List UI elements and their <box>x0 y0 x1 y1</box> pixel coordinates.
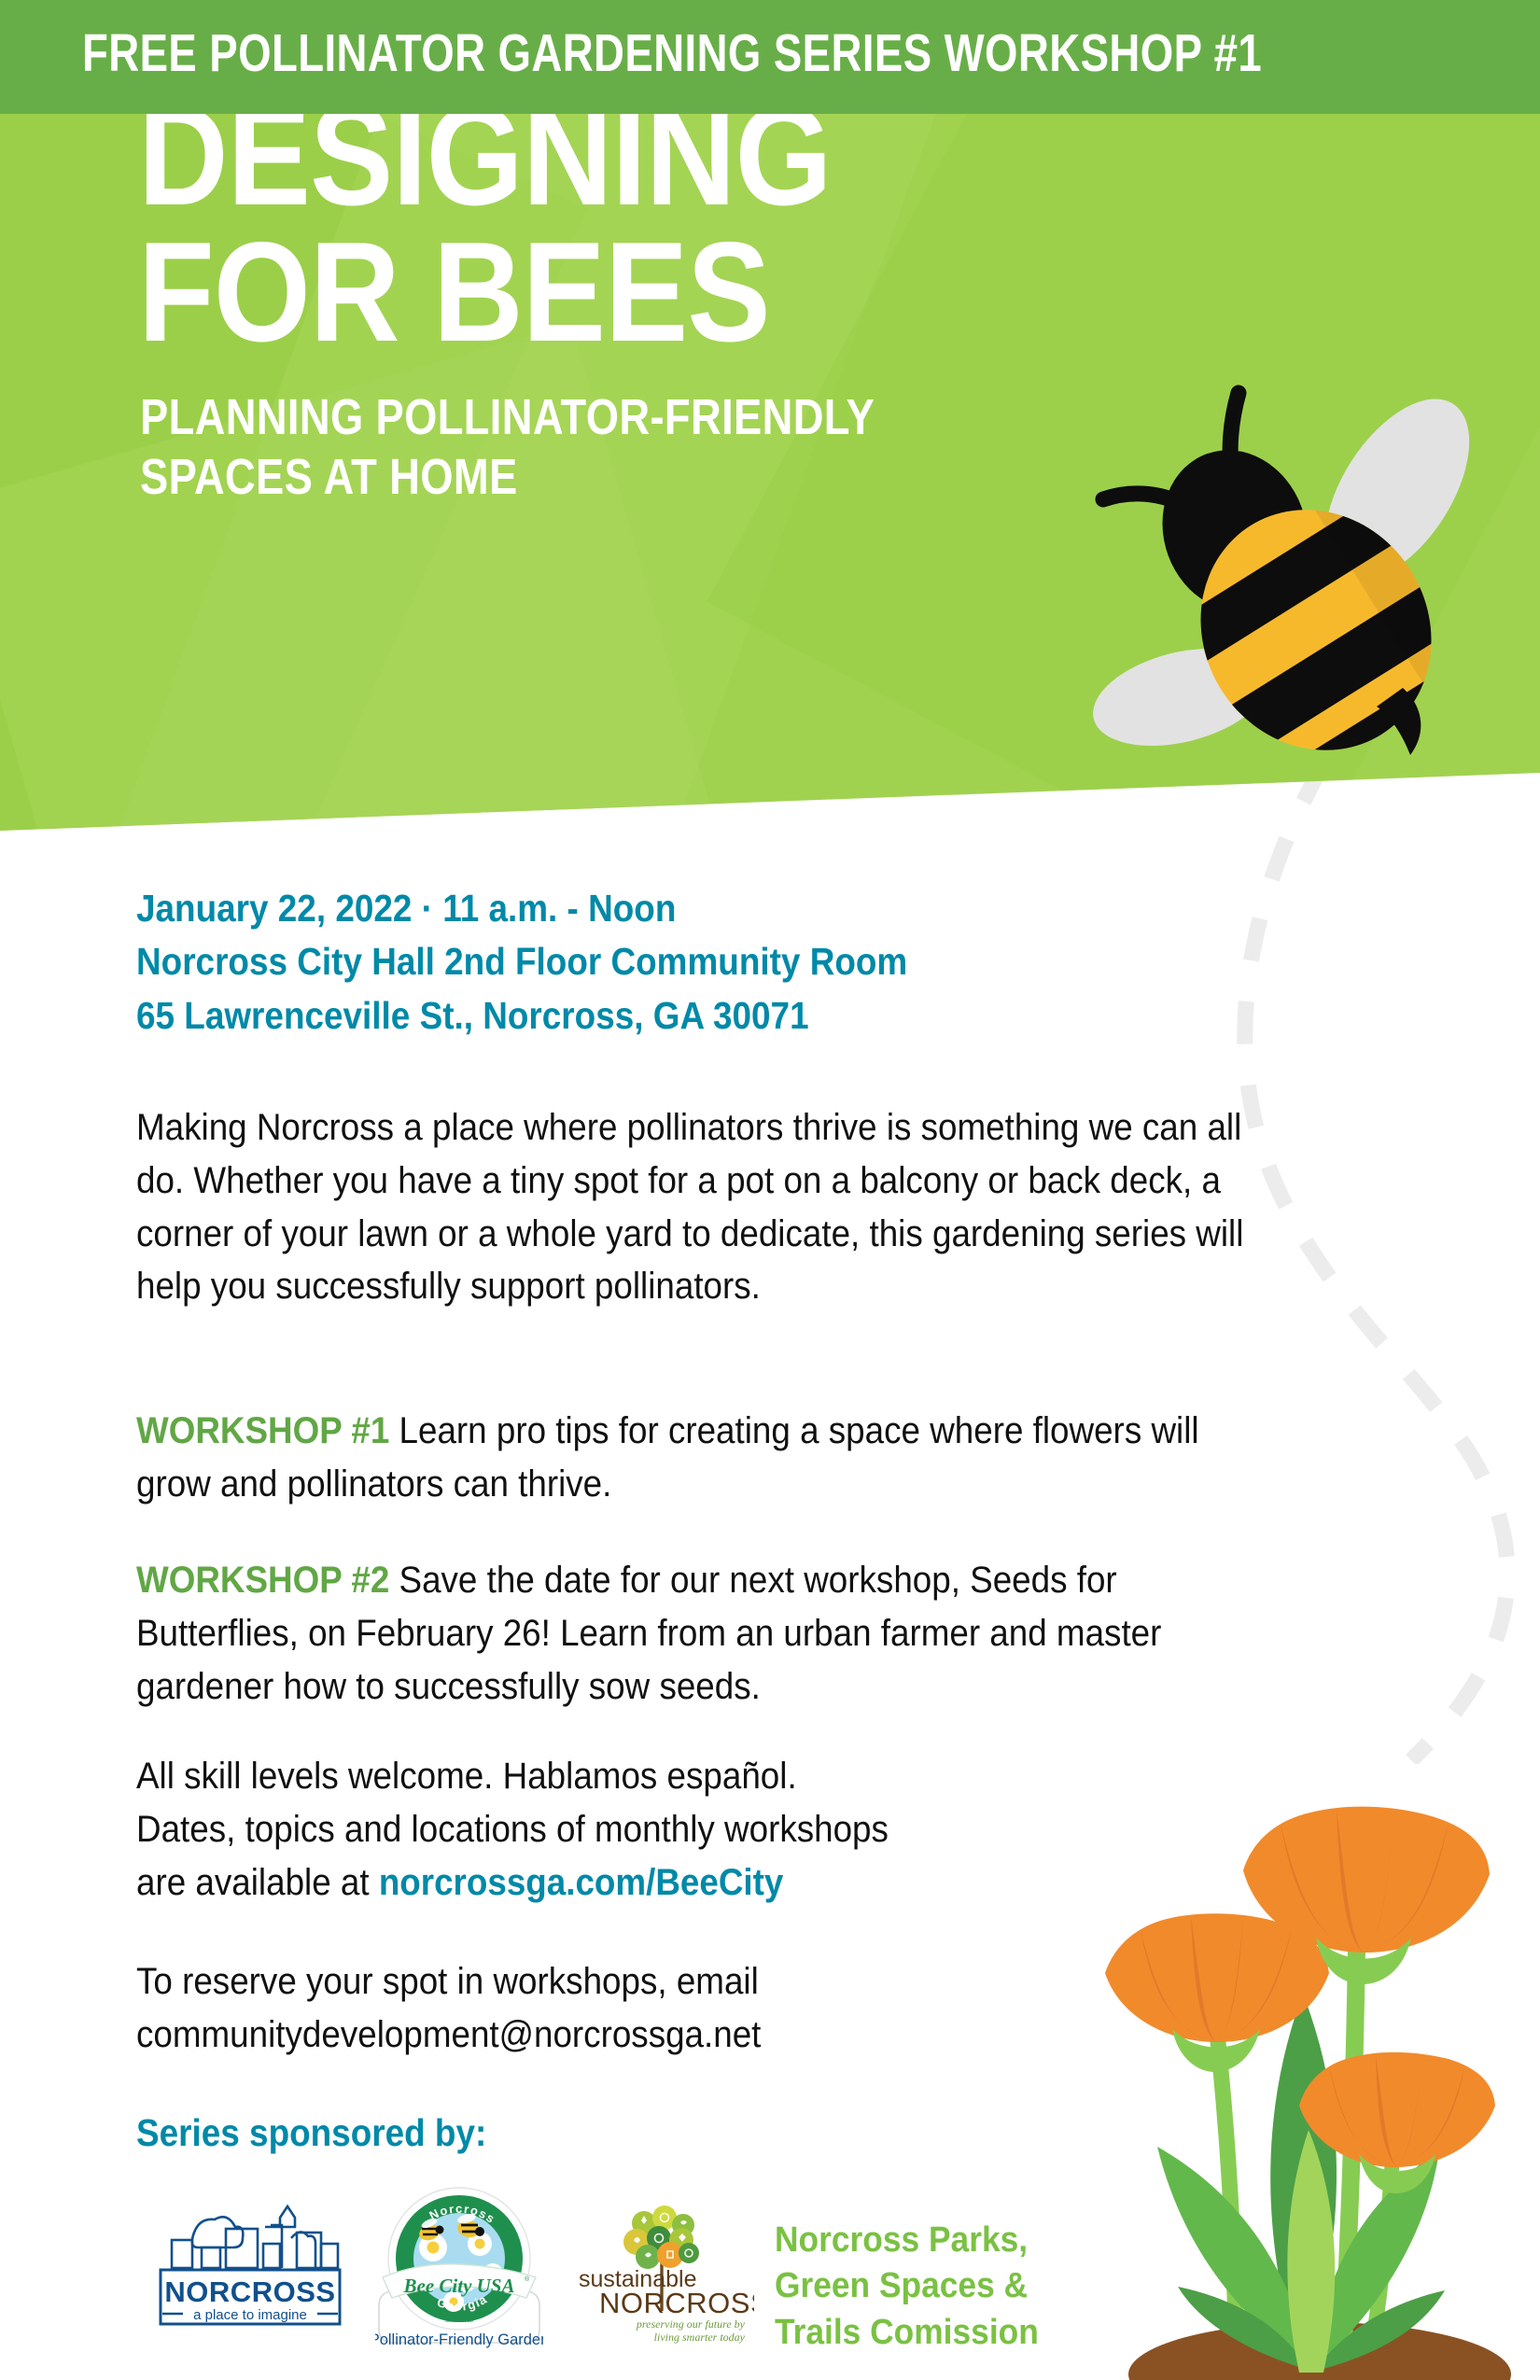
svg-text:NORCROSS: NORCROSS <box>164 2275 335 2308</box>
sponsor-logos: NORCROSS a place to imagine <box>131 2184 1232 2361</box>
info-paragraph: All skill levels welcome. Hablamos españ… <box>136 1750 1244 1909</box>
event-date-time: January 22, 2022 · 11 a.m. - Noon <box>136 882 907 935</box>
poster-canvas: FREE POLLINATOR GARDENING SERIES WORKSHO… <box>0 0 1540 2380</box>
norcross-city-logo: NORCROSS a place to imagine <box>146 2201 351 2341</box>
info-line-3-prefix: are available at <box>136 1862 379 1903</box>
beecity-plaque-text: Pollinator-Friendly Garden <box>375 2331 543 2348</box>
sustainable-norcross-logo: sustainable NORCROSS preserving our futu… <box>567 2195 754 2352</box>
bee-city-usa-logo: Norcross Georgia Since 2018 Bee City USA… <box>375 2182 543 2361</box>
email-paragraph: To reserve your spot in workshops, email… <box>136 1955 1244 2062</box>
parks-line-2: Green Spaces & <box>775 2263 1039 2309</box>
parks-commission-text: Norcross Parks, Green Spaces & Trails Co… <box>775 2218 1039 2356</box>
norcross-word: NORCROSS <box>599 2287 754 2319</box>
sponsors-heading: Series sponsored by: <box>136 2111 486 2155</box>
info-line-1: All skill levels welcome. Hablamos españ… <box>136 1756 797 1797</box>
svg-text:Since 2018: Since 2018 <box>445 2318 474 2324</box>
svg-text:a place to imagine: a place to imagine <box>193 2307 307 2323</box>
intro-paragraph: Making Norcross a place where pollinator… <box>136 1101 1244 1313</box>
parks-line-1: Norcross Parks, <box>775 2218 1039 2263</box>
info-line-2: Dates, topics and locations of monthly w… <box>136 1809 889 1850</box>
email-line-1: To reserve your spot in workshops, email <box>136 1961 759 2002</box>
workshop-1-label: WORKSHOP #1 <box>136 1410 389 1451</box>
event-venue: Norcross City Hall 2nd Floor Community R… <box>136 935 907 988</box>
content-area: January 22, 2022 · 11 a.m. - Noon Norcro… <box>0 0 1540 2380</box>
beecity-website-link[interactable]: norcrossga.com/BeeCity <box>379 1862 784 1903</box>
email-address-link[interactable]: communitydevelopment@norcrossga.net <box>136 2014 761 2055</box>
event-details: January 22, 2022 · 11 a.m. - Noon Norcro… <box>136 882 907 1043</box>
svg-text:living smarter today: living smarter today <box>654 2331 746 2344</box>
workshop-2-label: WORKSHOP #2 <box>136 1560 389 1601</box>
svg-text:preserving our future by: preserving our future by <box>636 2317 746 2331</box>
svg-text:®: ® <box>525 2275 530 2283</box>
svg-text:Bee City USA: Bee City USA <box>403 2275 515 2297</box>
parks-line-3: Trails Comission <box>775 2310 1039 2356</box>
event-address: 65 Lawrenceville St., Norcross, GA 30071 <box>136 989 907 1043</box>
workshop-2-paragraph: WORKSHOP #2 Save the date for our next w… <box>136 1554 1244 1713</box>
workshop-1-paragraph: WORKSHOP #1 Learn pro tips for creating … <box>136 1405 1244 1511</box>
